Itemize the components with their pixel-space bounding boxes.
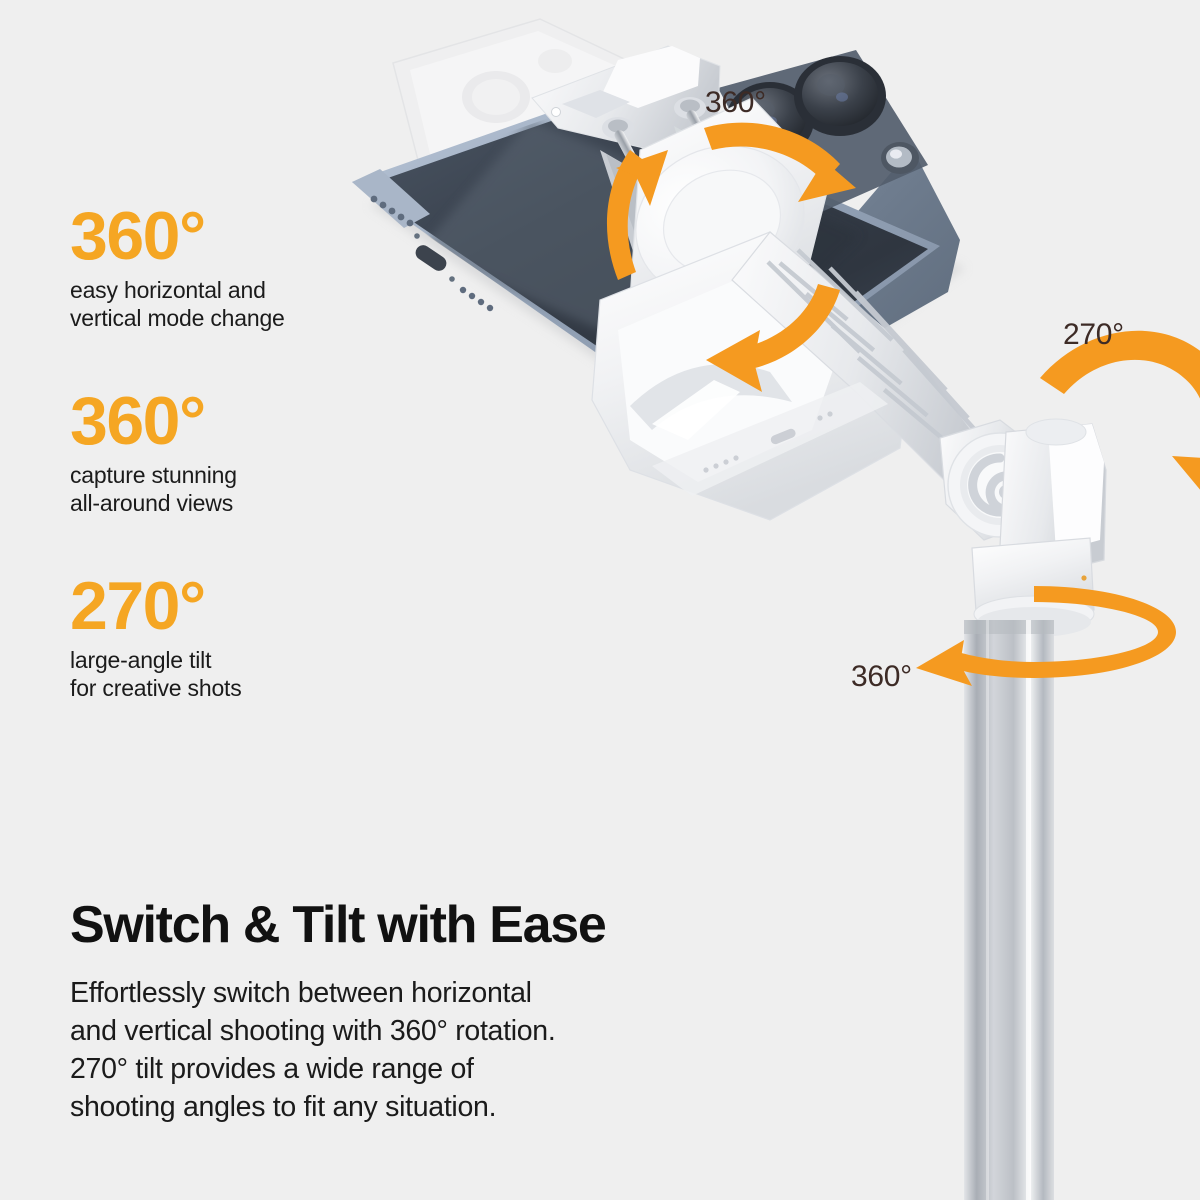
feature-description: large-angle tilt for creative shots: [70, 646, 410, 702]
feature-item: 270° large-angle tilt for creative shots: [70, 575, 410, 702]
feature-description: easy horizontal and vertical mode change: [70, 276, 410, 332]
feature-stat: 360°: [70, 390, 410, 454]
camera-lens: [794, 56, 886, 136]
tripod-pole: [964, 620, 1054, 1200]
feature-item: 360° capture stunning all-around views: [70, 390, 410, 517]
feature-description: capture stunning all-around views: [70, 461, 410, 517]
feature-list: 360° easy horizontal and vertical mode c…: [70, 205, 410, 760]
body-copy: Effortlessly switch between horizontal a…: [70, 975, 710, 1127]
callout-mount-rotation: 360°: [705, 86, 766, 120]
arrow-head-tilt: [1172, 456, 1200, 540]
feature-item: 360° easy horizontal and vertical mode c…: [70, 205, 410, 332]
marketing-slide: 360° 270° 360° 360° easy horizontal and …: [0, 0, 1200, 1200]
headline: Switch & Tilt with Ease: [70, 895, 605, 955]
feature-stat: 360°: [70, 205, 410, 269]
callout-tilt: 270°: [1063, 318, 1124, 352]
feature-stat: 270°: [70, 575, 410, 639]
camera-flash: [881, 142, 919, 174]
callout-base-rotation: 360°: [851, 660, 912, 694]
